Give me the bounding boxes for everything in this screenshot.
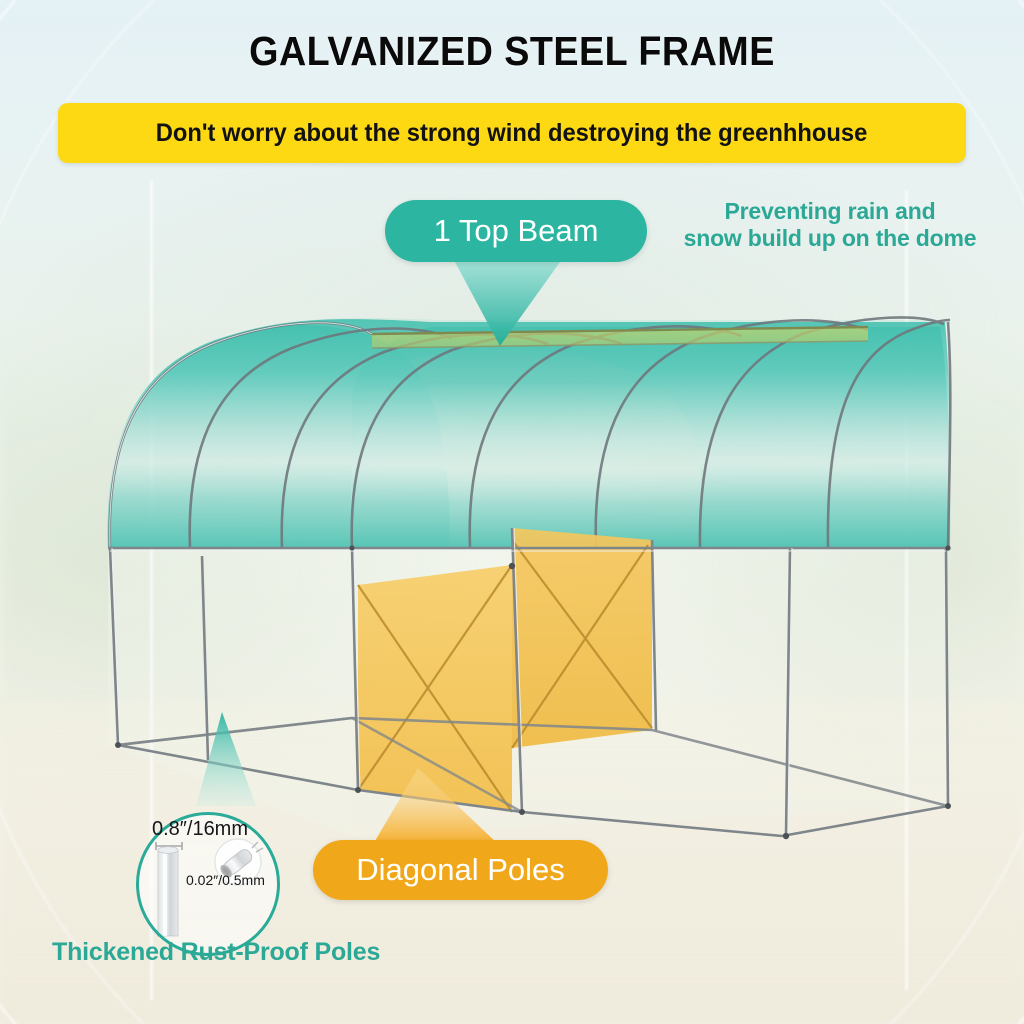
infographic-canvas: GALVANIZED STEEL FRAME Don't worry about…: [0, 0, 1024, 1024]
rust-proof-caption: Thickened Rust-Proof Poles: [52, 938, 380, 967]
page-title: GALVANIZED STEEL FRAME: [41, 28, 983, 75]
badge-top-beam: 1 Top Beam: [385, 200, 647, 262]
pole-wall-thickness-label: 0.02″/0.5mm: [186, 872, 265, 888]
wind-claim-text: Don't worry about the strong wind destro…: [156, 119, 868, 148]
pole-diameter-label: 0.8″/16mm: [152, 818, 248, 841]
badge-diagonal-poles: Diagonal Poles: [313, 840, 608, 900]
dome-benefit-caption: Preventing rain and snow build up on the…: [650, 198, 1010, 252]
wind-claim-banner: Don't worry about the strong wind destro…: [58, 103, 966, 163]
dome-benefit-line-1: Preventing rain and: [650, 198, 1010, 225]
badge-top-beam-label: 1 Top Beam: [434, 213, 599, 249]
greenhouse-dome: [108, 318, 951, 548]
badge-diagonal-poles-label: Diagonal Poles: [356, 852, 565, 888]
dome-benefit-line-2: snow build up on the dome: [650, 225, 1010, 252]
